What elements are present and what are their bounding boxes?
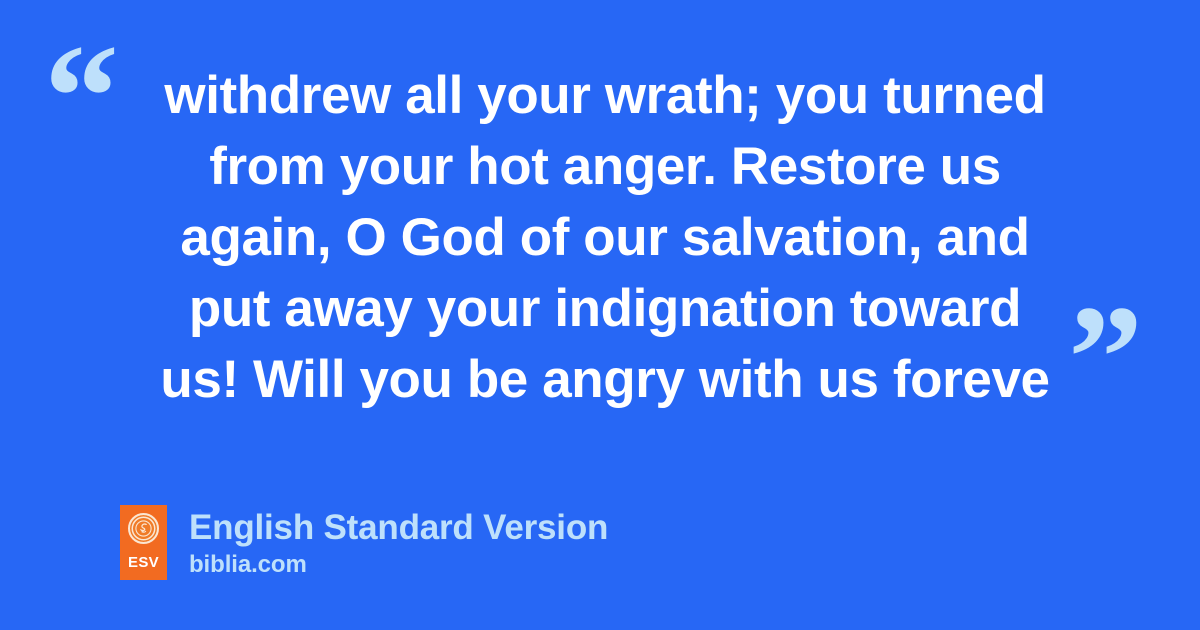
attribution-text: English Standard Version biblia.com bbox=[189, 505, 608, 579]
esv-seal-icon bbox=[128, 513, 159, 544]
bible-version-name: English Standard Version bbox=[189, 507, 608, 549]
opening-quote-icon: “ bbox=[44, 22, 119, 172]
verse-quote-card: “ withdrew all your wrath; you turned fr… bbox=[0, 0, 1200, 630]
closing-quote-icon: ” bbox=[1068, 283, 1143, 433]
attribution: ESV English Standard Version biblia.com bbox=[120, 505, 608, 580]
quote-text: withdrew all your wrath; you turned from… bbox=[110, 60, 1100, 415]
site-url[interactable]: biblia.com bbox=[189, 551, 608, 579]
quote-block: “ withdrew all your wrath; you turned fr… bbox=[0, 0, 1200, 460]
esv-logo: ESV bbox=[120, 505, 167, 580]
esv-logo-label: ESV bbox=[128, 555, 159, 570]
